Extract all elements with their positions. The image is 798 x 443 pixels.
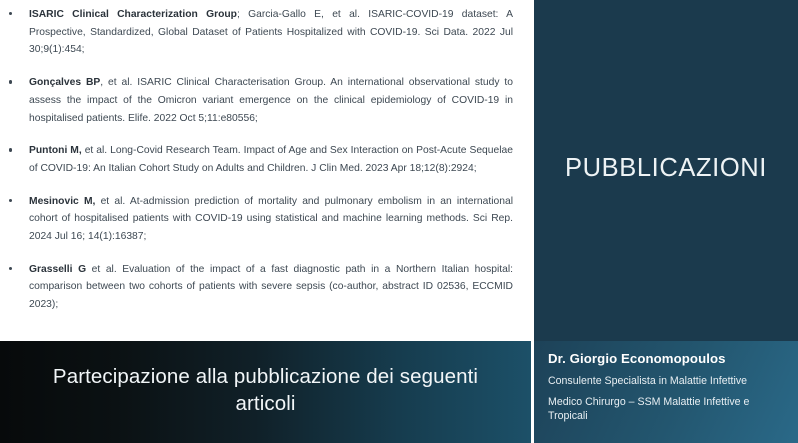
reference-author: Mesinovic M, xyxy=(29,196,95,207)
bullet-point-icon xyxy=(9,12,12,15)
publication-reference-list: ISARIC Clinical Characterization Group; … xyxy=(0,6,513,314)
presenter-name: Dr. Giorgio Economopoulos xyxy=(548,351,784,368)
presentation-slide: ISARIC Clinical Characterization Group; … xyxy=(0,0,798,443)
bullet-point-icon xyxy=(9,199,12,202)
bullet-point-icon xyxy=(9,80,12,83)
reference-citation: et al. Evaluation of the impact of a fas… xyxy=(29,264,513,310)
reference-author: ISARIC Clinical Characterization Group xyxy=(29,9,237,20)
bullet-point-icon xyxy=(9,148,12,151)
reference-citation: et al. At-admission prediction of mortal… xyxy=(29,196,513,242)
reference-citation: , et al. ISARIC Clinical Characterisatio… xyxy=(29,77,513,123)
publication-reference-item: Grasselli G et al. Evaluation of the imp… xyxy=(0,261,513,314)
presenter-role: Consulente Specialista in Malattie Infet… xyxy=(548,375,784,389)
reference-author: Puntoni M, xyxy=(29,145,82,156)
presenter-qualification: Medico Chirurgo – SSM Malattie Infettive… xyxy=(548,396,784,424)
reference-author: Grasselli G xyxy=(29,264,86,275)
bullet-point-icon xyxy=(9,267,12,270)
banner-heading: Partecipazione alla pubblicazione dei se… xyxy=(34,363,497,417)
publication-reference-item: Mesinovic M, et al. At-admission predict… xyxy=(0,193,513,246)
slide-footer-banner: Partecipazione alla pubblicazione dei se… xyxy=(0,341,531,443)
reference-author: Gonçalves BP xyxy=(29,77,100,88)
publication-reference-item: Gonçalves BP, et al. ISARIC Clinical Cha… xyxy=(0,74,513,127)
reference-citation: et al. Long-Covid Research Team. Impact … xyxy=(29,145,513,174)
publication-reference-item: Puntoni M, et al. Long-Covid Research Te… xyxy=(0,142,513,177)
presenter-credential-card: Dr. Giorgio Economopoulos Consulente Spe… xyxy=(534,341,798,443)
publications-content-area: ISARIC Clinical Characterization Group; … xyxy=(0,0,531,341)
publication-reference-item: ISARIC Clinical Characterization Group; … xyxy=(0,6,513,59)
page-title: PUBBLICAZIONI xyxy=(534,0,798,341)
